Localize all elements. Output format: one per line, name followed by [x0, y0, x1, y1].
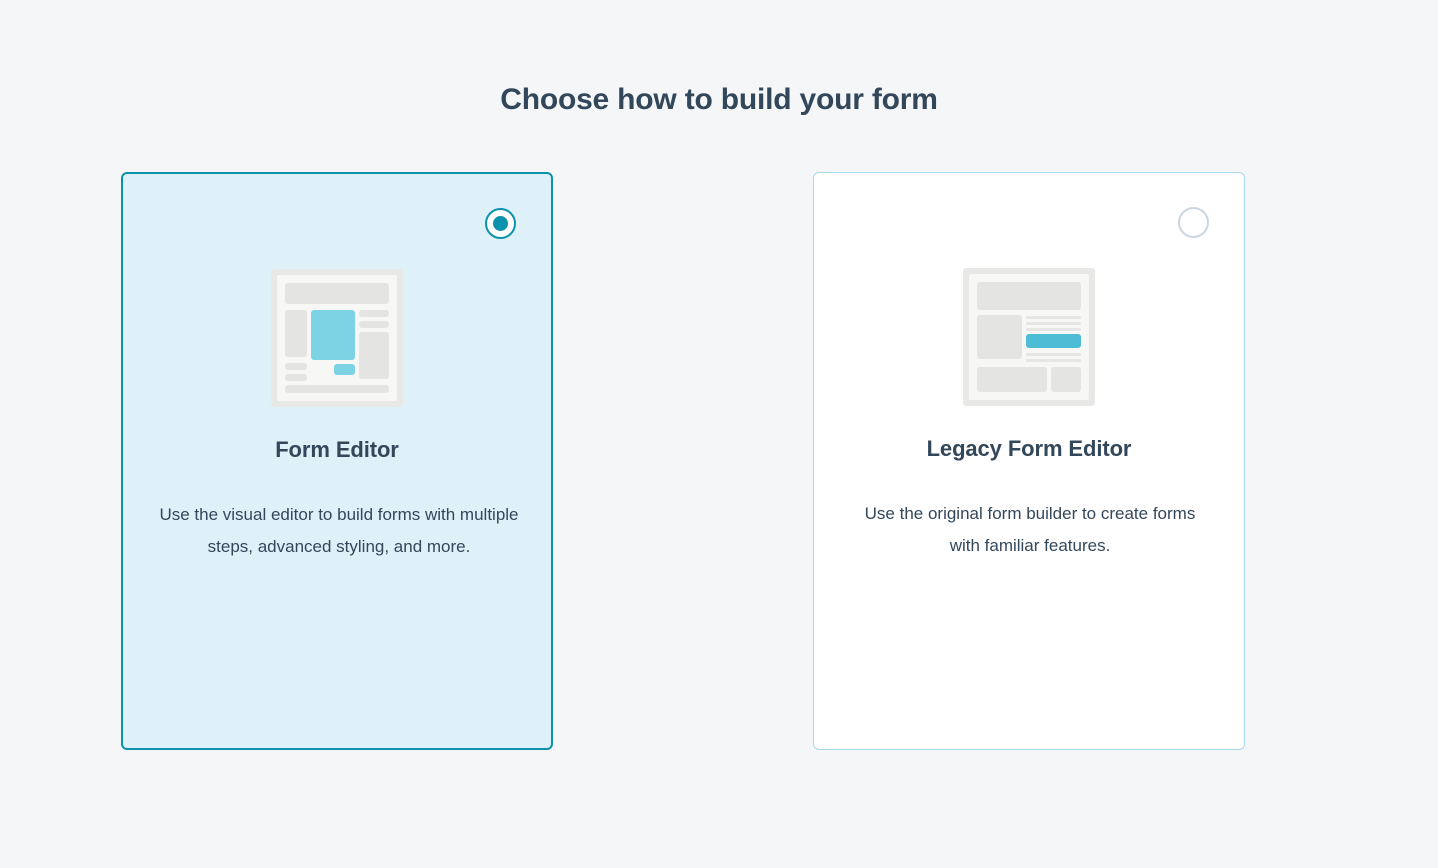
illustration-footer-bar: [285, 385, 389, 393]
form-editor-layout-icon: [271, 269, 403, 407]
illustration-bottom-narrow-block: [1051, 367, 1081, 392]
illustration-submit-chip: [334, 364, 355, 375]
illustration-text-line-2: [1026, 322, 1081, 325]
choose-form-builder-screen: Choose how to build your form: [0, 0, 1438, 868]
option-title: Form Editor: [123, 437, 551, 463]
option-description: Use the visual editor to build forms wit…: [159, 499, 519, 563]
option-card-legacy-form-editor[interactable]: Legacy Form Editor Use the original form…: [813, 172, 1245, 750]
illustration-primary-panel: [311, 310, 355, 360]
option-title: Legacy Form Editor: [814, 436, 1244, 462]
illustration-right-bar-1: [359, 310, 389, 317]
illustration-page: [969, 274, 1089, 400]
illustration-text-line-3: [1026, 328, 1081, 331]
page-title: Choose how to build your form: [0, 78, 1438, 122]
legacy-form-editor-layout-icon: [963, 268, 1095, 406]
illustration-page: [277, 275, 397, 401]
illustration-right-tall-block: [359, 332, 389, 379]
illustration-header-bar: [285, 283, 389, 304]
illustration-primary-button: [1026, 334, 1081, 348]
form-builder-options-group: Form Editor Use the visual editor to bui…: [121, 172, 1245, 750]
illustration-text-line-1: [1026, 316, 1081, 319]
radio-selected-icon[interactable]: [485, 208, 516, 239]
illustration-right-bar-2: [359, 321, 389, 328]
illustration-text-line-5: [1026, 359, 1081, 362]
radio-dot: [493, 216, 508, 231]
option-description: Use the original form builder to create …: [850, 498, 1210, 562]
illustration-header-bar: [977, 282, 1081, 310]
illustration-left-column: [285, 310, 307, 357]
radio-unselected-icon[interactable]: [1178, 207, 1209, 238]
illustration-bottom-bar-1: [285, 363, 307, 370]
option-card-form-editor[interactable]: Form Editor Use the visual editor to bui…: [121, 172, 553, 750]
illustration-left-box: [977, 315, 1022, 359]
illustration-bottom-bar-2: [285, 374, 307, 381]
illustration-text-line-4: [1026, 353, 1081, 356]
illustration-bottom-wide-block: [977, 367, 1047, 392]
